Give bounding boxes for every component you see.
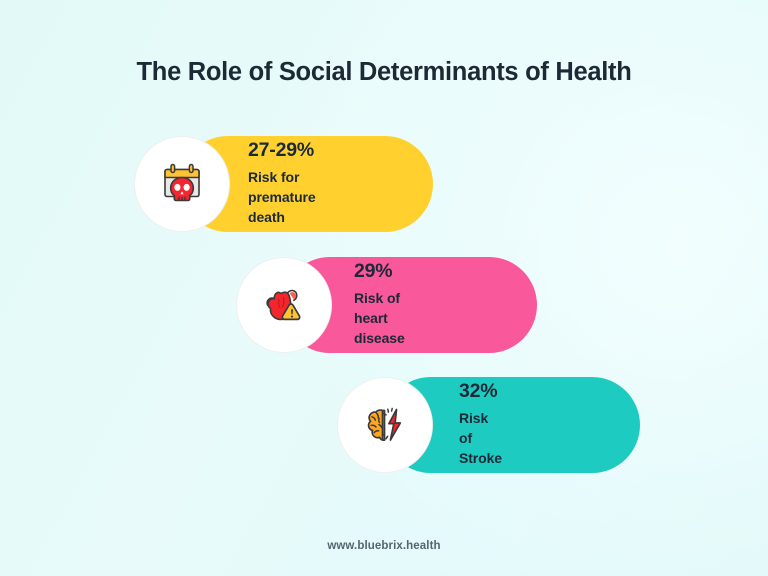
- infographic-canvas: The Role of Social Determinants of Healt…: [0, 0, 768, 576]
- page-title: The Role of Social Determinants of Healt…: [0, 58, 768, 87]
- heart-warning-icon: [258, 279, 310, 331]
- stat-text-2: 29% Risk of heart disease: [354, 257, 405, 353]
- icon-circle-3: [337, 377, 433, 473]
- stat-desc-2-line-1: Risk of: [354, 289, 405, 309]
- footer-website: www.bluebrix.health: [0, 540, 768, 552]
- stat-percent-2: 29%: [354, 261, 405, 281]
- icon-circle-1: [134, 136, 230, 232]
- stat-desc-2-line-2: heart disease: [354, 309, 405, 349]
- icon-circle-2: [236, 257, 332, 353]
- stat-percent-1: 27-29%: [248, 140, 316, 160]
- stat-text-1: 27-29% Risk for premature death: [248, 136, 316, 232]
- stat-desc-1-line-2: premature death: [248, 188, 316, 228]
- brain-lightning-icon: [359, 399, 411, 451]
- stat-text-3: 32% Risk of Stroke: [459, 377, 502, 473]
- stat-percent-3: 32%: [459, 381, 502, 401]
- stat-desc-1-line-1: Risk for: [248, 168, 316, 188]
- stat-desc-3-line-1: Risk of Stroke: [459, 409, 502, 469]
- calendar-skull-icon: [156, 158, 208, 210]
